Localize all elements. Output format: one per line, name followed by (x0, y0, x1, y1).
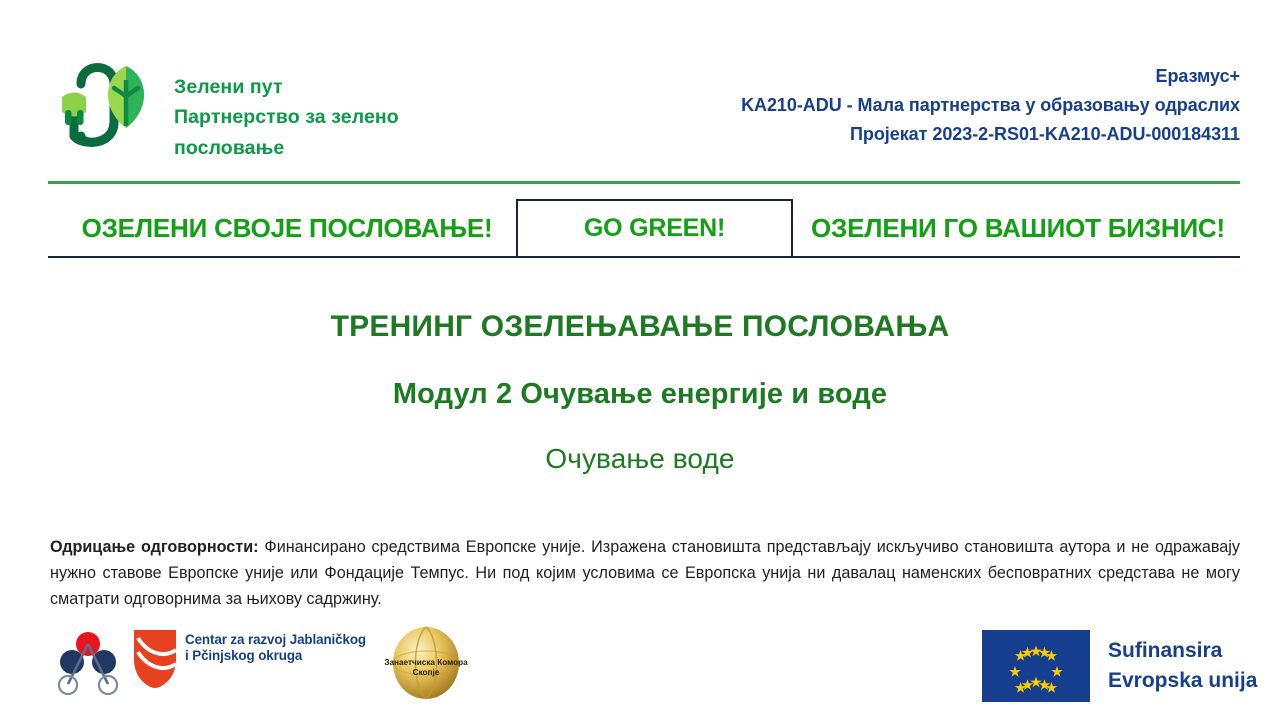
golden-sphere-icon: Занаетчиска Комора Скопје (374, 625, 478, 701)
crd-shield-icon (132, 628, 178, 690)
slide-header: Зелени пут Партнерство за зелено послова… (48, 48, 1240, 173)
erasmus-action: KA210-ADU - Мала партнерства у образовањ… (741, 91, 1240, 120)
eu-logo-text: Sufinansira Evropska unija (1108, 636, 1257, 696)
erasmus-programme: Еразмус+ (741, 62, 1240, 91)
plug-leaf-icon (48, 50, 158, 158)
header-divider (48, 181, 1240, 184)
project-brand: Зелени пут Партнерство за зелено послова… (48, 48, 399, 163)
eu-flag-icon (982, 630, 1090, 702)
erasmus-info: Еразмус+ KA210-ADU - Мала партнерства у … (741, 48, 1240, 149)
centar-za-razvoj-logo: Centar za razvoj Jablaničkog i Pčinjskog… (132, 628, 366, 690)
eu-cofunded-logo: Sufinansira Evropska unija (982, 630, 1257, 702)
molecule-icon (52, 628, 124, 700)
slogan-tabbar: ОЗЕЛЕНИ СВОЈЕ ПОСЛОВАЊЕ! GO GREEN! ОЗЕЛЕ… (48, 198, 1240, 258)
footer-logos: Centar za razvoj Jablaničkog i Pčinjskog… (0, 620, 1280, 720)
tab-go-green[interactable]: GO GREEN! (516, 199, 793, 256)
page-title: ТРЕНИНГ ОЗЕЛЕЊАВАЊЕ ПОСЛОВАЊА (0, 310, 1280, 344)
tab-ozeleni-svoje-poslovanje[interactable]: ОЗЕЛЕНИ СВОЈЕ ПОСЛОВАЊЕ! (58, 202, 516, 256)
erasmus-project-number: Пројекат 2023-2-RS01-KA210-ADU-000184311 (741, 120, 1240, 149)
crd-logo-text: Centar za razvoj Jablaničkog i Pčinjskog… (185, 628, 366, 665)
slide: Зелени пут Партнерство за зелено послова… (0, 0, 1280, 720)
tabbar-divider (48, 256, 1240, 259)
disclaimer-text: Одрицање одговорности: Финансирано средс… (50, 534, 1240, 613)
skopje-logo-line1: Занаетчиска Комора (384, 658, 468, 667)
brand-title: Зелени пут Партнерство за зелено послова… (174, 48, 399, 163)
module-title: Модул 2 Очување енергије и воде (0, 378, 1280, 411)
skopje-logo-line2: Скопје (413, 668, 440, 677)
title-block: ТРЕНИНГ ОЗЕЛЕЊАВАЊЕ ПОСЛОВАЊА Модул 2 Оч… (0, 310, 1280, 475)
tab-ozeleni-go-vashiot-biznis[interactable]: ОЗЕЛЕНИ ГО ВАШИОТ БИЗНИС! (796, 202, 1240, 256)
disclaimer-label: Одрицање одговорности: (50, 538, 259, 556)
lesson-subtitle: Очување воде (0, 443, 1280, 475)
